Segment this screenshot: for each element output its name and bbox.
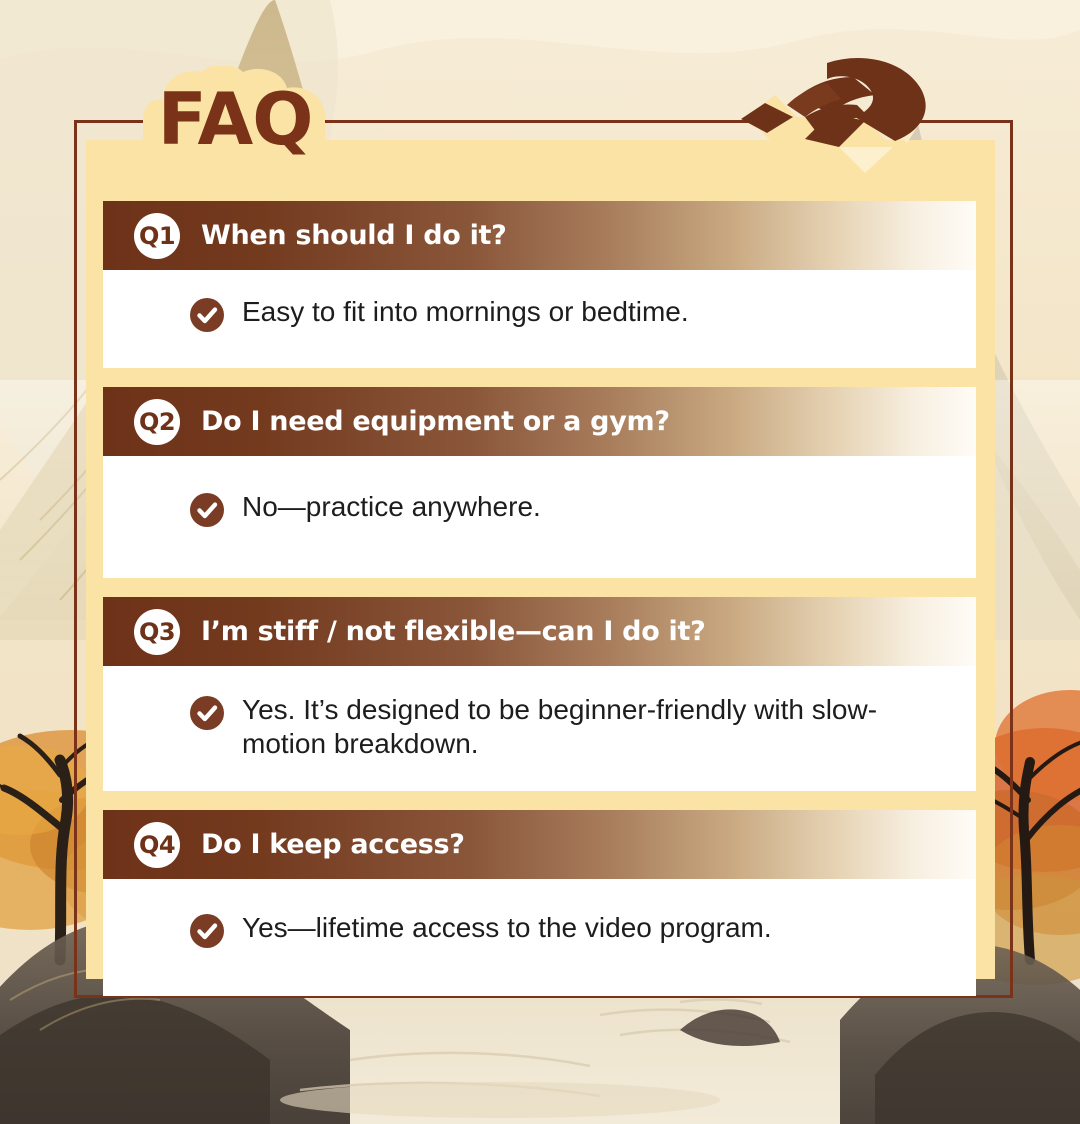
answer-text: Yes—lifetime access to the video program… (242, 911, 772, 945)
question-badge: Q3 (134, 609, 180, 655)
check-circle-icon (189, 913, 225, 949)
faq-card[interactable]: Q4 Do I keep access? Yes—lifetime access… (103, 810, 976, 996)
question-badge: Q4 (134, 822, 180, 868)
answer-text: No—practice anywhere. (242, 490, 541, 524)
check-circle-icon (189, 297, 225, 333)
faq-question-header[interactable]: Q4 Do I keep access? (103, 810, 976, 879)
question-mark-3d-icon (735, 55, 935, 180)
question-text: I’m stiff / not flexible—can I do it? (201, 616, 705, 647)
check-circle-icon (189, 492, 225, 528)
faq-title: FAQ (137, 66, 333, 176)
faq-answer-body: No—practice anywhere. (103, 456, 976, 578)
question-text: Do I keep access? (201, 829, 465, 860)
question-badge: Q1 (134, 213, 180, 259)
faq-question-header[interactable]: Q2 Do I need equipment or a gym? (103, 387, 976, 456)
faq-question-header[interactable]: Q1 When should I do it? (103, 201, 976, 270)
faq-card[interactable]: Q3 I’m stiff / not flexible—can I do it?… (103, 597, 976, 791)
faq-question-header[interactable]: Q3 I’m stiff / not flexible—can I do it? (103, 597, 976, 666)
answer-text: Easy to fit into mornings or bedtime. (242, 295, 689, 329)
question-badge: Q2 (134, 399, 180, 445)
faq-answer-body: Yes. It’s designed to be beginner-friend… (103, 666, 976, 791)
faq-card[interactable]: Q1 When should I do it? Easy to fit into… (103, 201, 976, 368)
faq-answer-body: Yes—lifetime access to the video program… (103, 879, 976, 996)
question-text: Do I need equipment or a gym? (201, 406, 670, 437)
faq-answer-body: Easy to fit into mornings or bedtime. (103, 270, 976, 368)
answer-text: Yes. It’s designed to be beginner-friend… (242, 693, 950, 761)
question-text: When should I do it? (201, 220, 507, 251)
page-title: FAQ (137, 66, 333, 176)
faq-card[interactable]: Q2 Do I need equipment or a gym? No—prac… (103, 387, 976, 578)
faq-list: Q1 When should I do it? Easy to fit into… (103, 201, 976, 996)
check-circle-icon (189, 695, 225, 731)
